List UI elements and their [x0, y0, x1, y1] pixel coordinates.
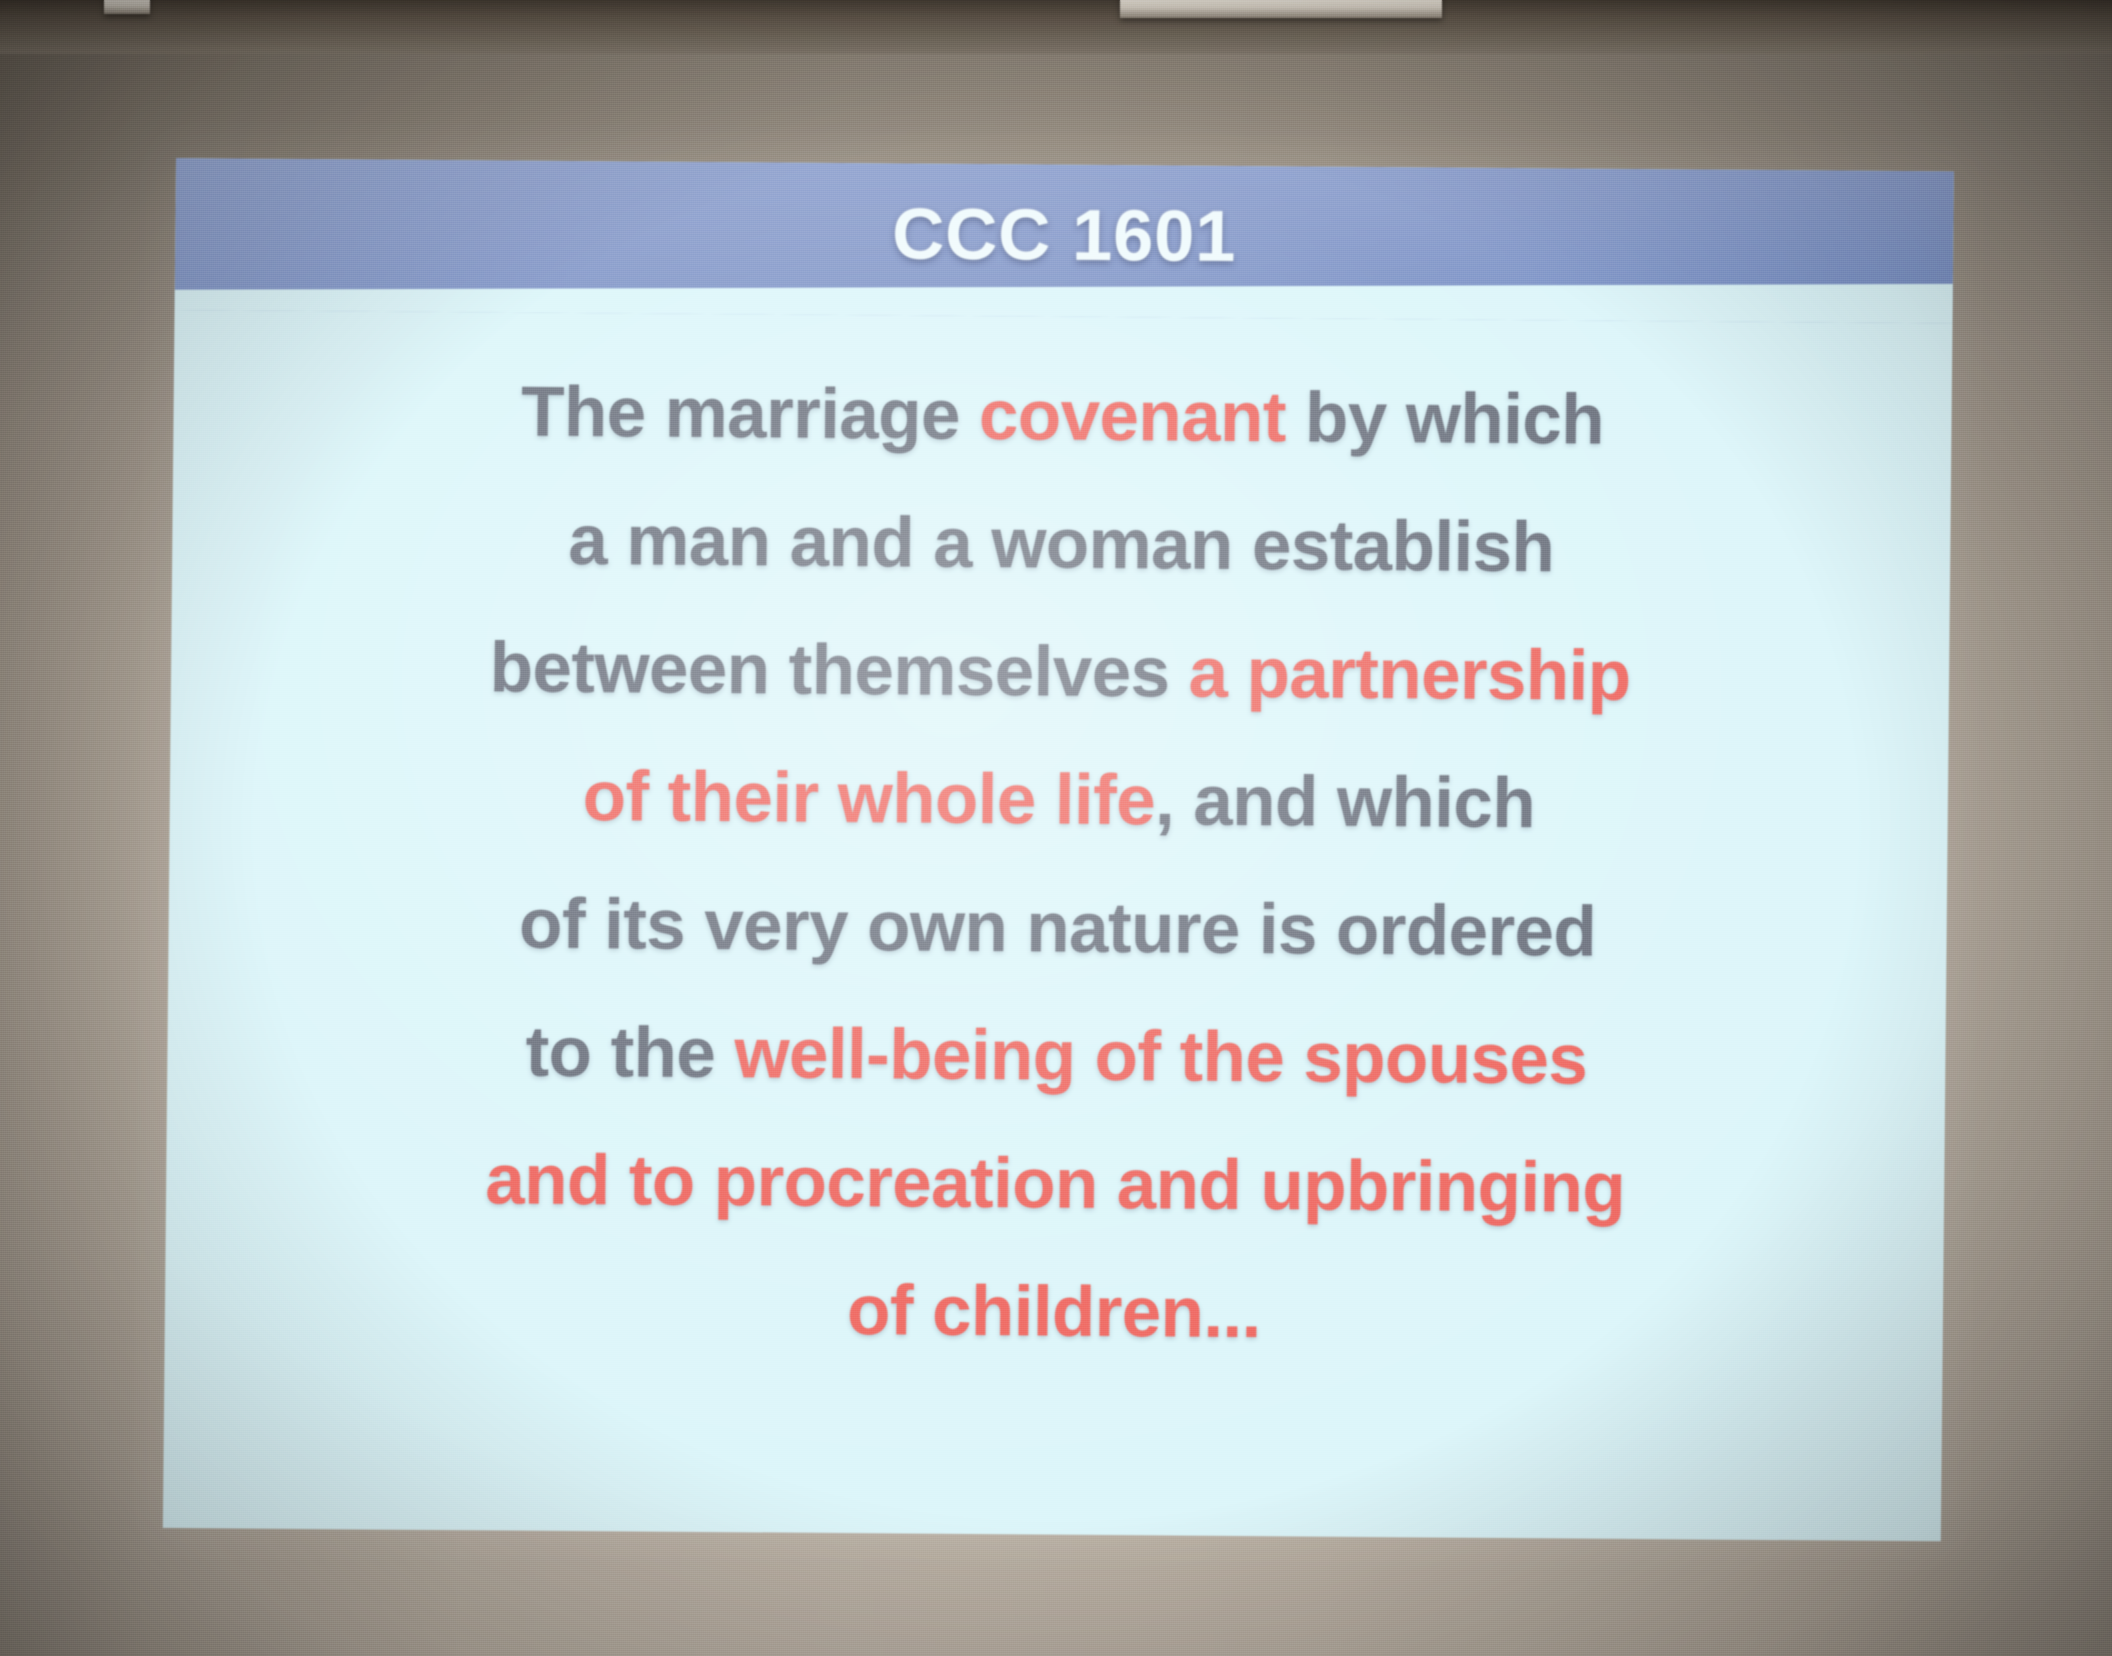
slide-text-line: to the well-being of the spouses	[193, 986, 1920, 1127]
text-run-normal: a man and a woman establish	[568, 501, 1555, 587]
text-run-normal: , and which	[1155, 761, 1536, 843]
text-run-normal: between themselves	[489, 628, 1189, 712]
text-run-normal: of its very own nature is ordered	[519, 885, 1597, 972]
slide-title: CCC 1601	[175, 188, 1954, 283]
text-run-emphasis: of children...	[847, 1271, 1261, 1353]
text-run-emphasis: well-being of the spouses	[734, 1014, 1588, 1099]
text-run-emphasis: and to procreation and upbringing	[485, 1140, 1626, 1228]
slide-text-line: of its very own nature is ordered	[194, 858, 1921, 999]
slide-header-band: CCC 1601	[175, 158, 1954, 323]
ceiling-edge	[0, 0, 2112, 54]
slide-text-line: and to procreation and upbringing	[192, 1114, 1919, 1255]
slide-surface: CCC 1601 The marriage covenant by whicha…	[163, 158, 1954, 1541]
slide-text-line: of children...	[190, 1242, 1917, 1383]
ceiling-panel-right	[1120, 0, 1442, 18]
room-photo: CCC 1601 The marriage covenant by whicha…	[0, 0, 2112, 1656]
slide-text-line: of their whole life, and which	[195, 730, 1922, 871]
text-run-normal: The marriage	[521, 373, 980, 455]
text-run-emphasis: covenant	[979, 376, 1287, 457]
slide-text-line: a man and a woman establish	[198, 474, 1925, 615]
text-run-emphasis: of their whole life	[582, 757, 1155, 840]
slide-text-line: between themselves a partnership	[197, 602, 1924, 743]
text-run-normal: to the	[525, 1013, 735, 1094]
slide-body-text: The marriage covenant by whicha man and …	[163, 310, 1953, 1541]
slide-text-line: The marriage covenant by which	[199, 346, 1926, 487]
text-run-emphasis: a partnership	[1188, 634, 1631, 716]
projected-slide: CCC 1601 The marriage covenant by whicha…	[163, 158, 1954, 1541]
text-run-normal: by which	[1285, 378, 1604, 459]
ceiling-panel-left	[104, 0, 150, 14]
